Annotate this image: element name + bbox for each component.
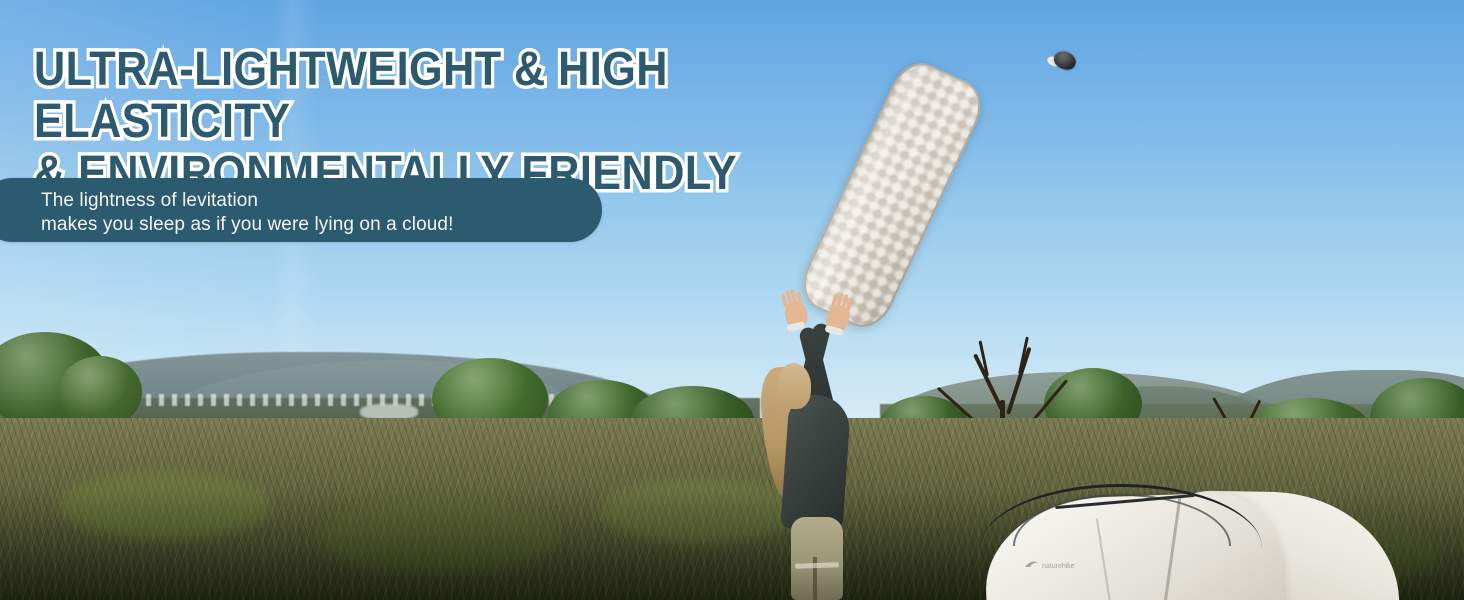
product-hero-banner: naturehike ULTRA-LIGHTWEIGHT & HIGH ELAS… bbox=[0, 0, 1464, 600]
trousers bbox=[791, 517, 843, 600]
subtitle-text: The lightness of levitation makes you sl… bbox=[41, 189, 601, 237]
hair-top bbox=[777, 363, 811, 409]
svg-text:naturehike: naturehike bbox=[1042, 563, 1075, 570]
camping-tent: naturehike bbox=[975, 470, 1464, 600]
tent-brand-logo-icon: naturehike bbox=[1023, 558, 1085, 571]
jacket-torso bbox=[780, 393, 851, 532]
page-title: ULTRA-LIGHTWEIGHT & HIGH ELASTICITY & EN… bbox=[34, 44, 934, 200]
person-figure bbox=[755, 295, 905, 600]
